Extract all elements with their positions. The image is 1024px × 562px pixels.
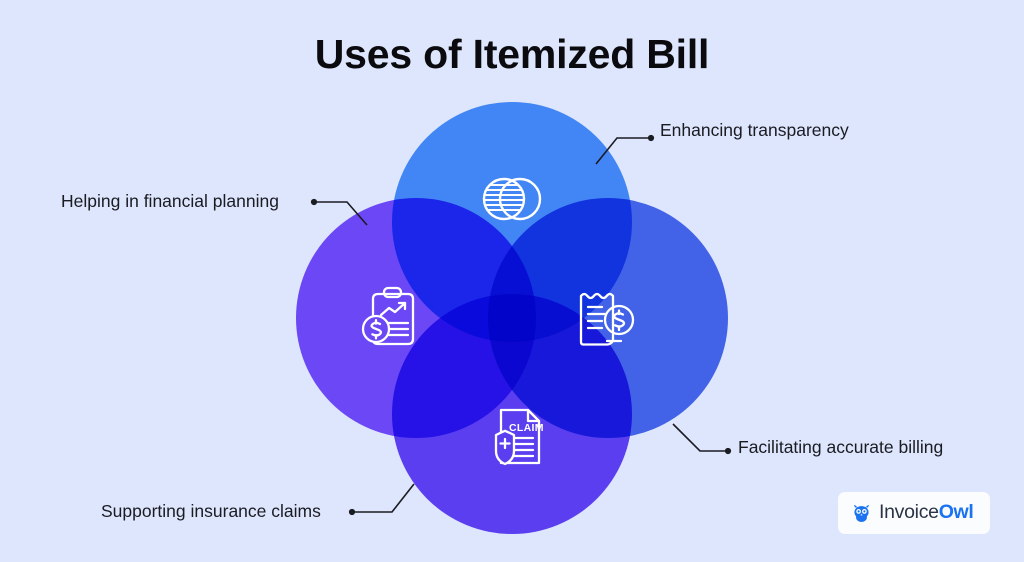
claim-document-shield-icon: CLAIM [473, 398, 551, 476]
page-title: Uses of Itemized Bill [0, 32, 1024, 77]
callout-label-helping-in-financial-planning: Helping in financial planning [61, 193, 279, 211]
clipboard-chart-dollar-icon [354, 279, 432, 357]
logo-wordmark: InvoiceOwl [879, 503, 974, 523]
callout-label-supporting-insurance-claims: Supporting insurance claims [101, 503, 321, 521]
overlapping-circles-icon [473, 160, 551, 238]
receipt-dollar-icon [569, 279, 647, 357]
claim-document-text: CLAIM [509, 422, 544, 434]
logo-word-owl: Owl [939, 501, 974, 523]
callout-label-enhancing-transparency: Enhancing transparency [660, 122, 849, 140]
venn-diagram: CLAIM [296, 102, 728, 534]
invoiceowl-logo[interactable]: InvoiceOwl [838, 492, 990, 534]
owl-icon [851, 503, 872, 524]
infographic-canvas: Uses of Itemized Bill [0, 0, 1024, 562]
callout-label-facilitating-accurate-billing: Facilitating accurate billing [738, 439, 943, 457]
logo-word-invoice: Invoice [879, 501, 939, 523]
